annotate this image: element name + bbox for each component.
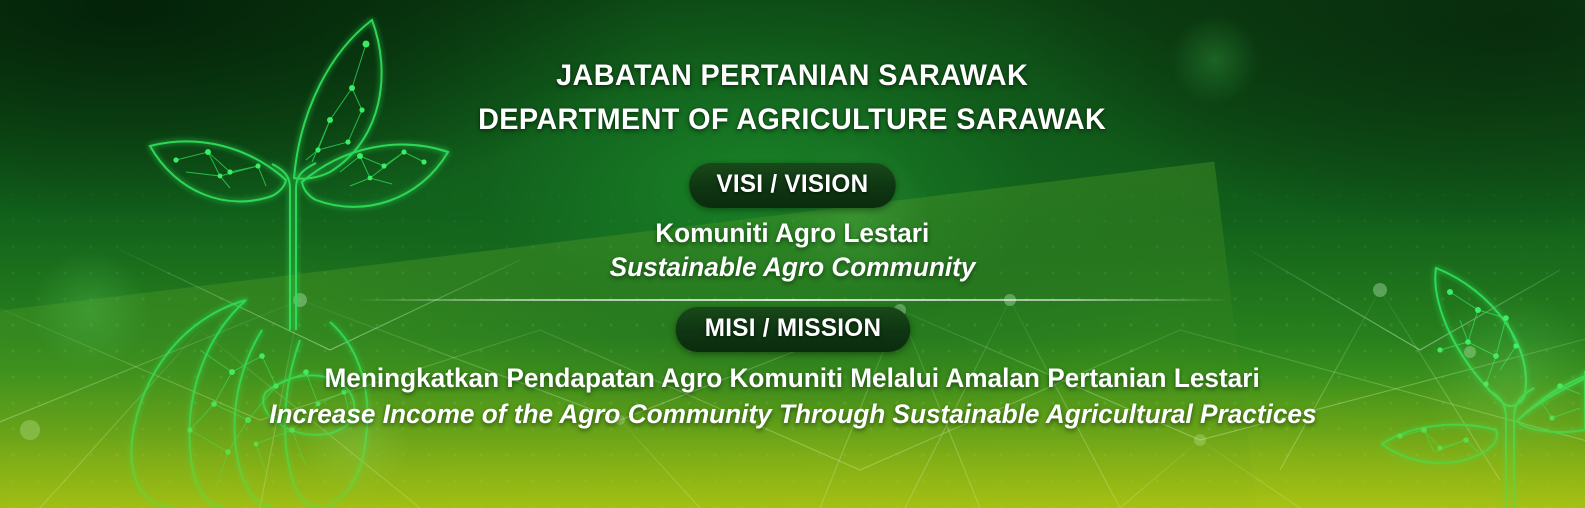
vision-badge: VISI / VISION: [689, 163, 895, 208]
vision-statement-en: Sustainable Agro Community: [610, 252, 976, 283]
organization-name-bm: JABATAN PERTANIAN SARAWAK: [556, 59, 1028, 92]
vision-statement-bm: Komuniti Agro Lestari: [655, 218, 929, 249]
organization-name-en: DEPARTMENT OF AGRICULTURE SARAWAK: [478, 98, 1106, 142]
banner-content: JABATAN PERTANIAN SARAWAK DEPARTMENT OF …: [0, 0, 1585, 508]
organization-title: JABATAN PERTANIAN SARAWAK DEPARTMENT OF …: [478, 54, 1106, 141]
mission-statement-bm: Meningkatkan Pendapatan Agro Komuniti Me…: [325, 363, 1260, 394]
mission-statement-en: Increase Income of the Agro Community Th…: [269, 399, 1316, 430]
vision-mission-banner: JABATAN PERTANIAN SARAWAK DEPARTMENT OF …: [0, 0, 1585, 508]
mission-badge: MISI / MISSION: [675, 307, 910, 352]
section-divider: [360, 299, 1226, 301]
